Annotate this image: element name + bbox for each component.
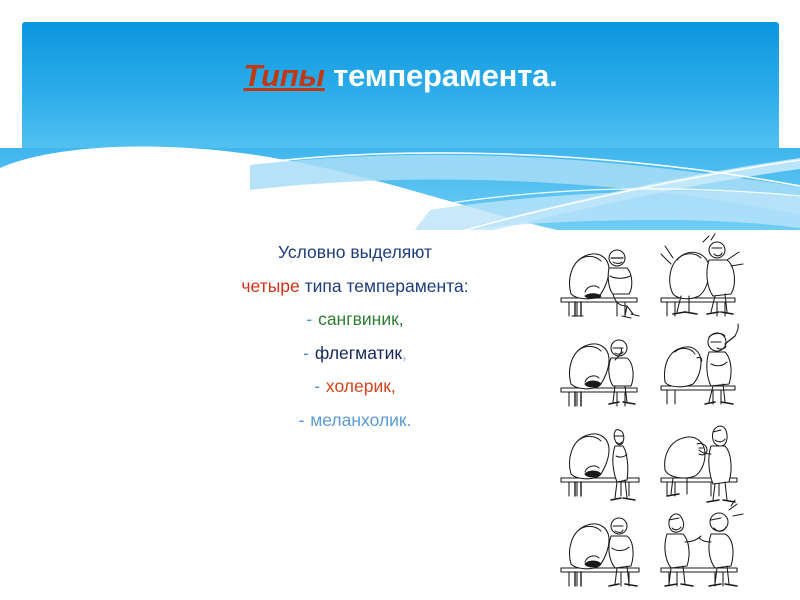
slide-header-banner xyxy=(0,0,800,230)
line-6: - меланхолик. xyxy=(150,404,560,438)
text-run: холерик, xyxy=(326,376,396,396)
text-run: - xyxy=(299,410,311,430)
text-run: , xyxy=(402,343,407,363)
slide: Типы темперамента. Условно выделяютчетыр… xyxy=(0,0,800,600)
four-temperaments-bench-cartoon xyxy=(553,232,758,592)
text-run: - xyxy=(314,376,326,396)
line-3: - сангвиник, xyxy=(150,303,560,337)
text-run: типа темперамента: xyxy=(300,276,469,296)
slide-title: Типы темперамента. xyxy=(22,60,779,91)
cartoon-grid-svg xyxy=(553,232,758,592)
text-run: четыре xyxy=(241,276,299,296)
text-run: флегматик xyxy=(315,343,402,363)
text-run: меланхолик. xyxy=(310,410,411,430)
text-run: - xyxy=(306,309,318,329)
title-remainder: темперамента. xyxy=(325,58,558,93)
title-accent-word: Типы xyxy=(243,58,324,93)
text-run: - xyxy=(303,343,315,363)
text-run: сангвиник, xyxy=(318,309,404,329)
body-text-block: Условно выделяютчетыре типа темперамента… xyxy=(150,236,560,437)
banner-graphic xyxy=(0,0,800,230)
line-2: четыре типа темперамента: xyxy=(150,270,560,304)
line-5: - холерик, xyxy=(150,370,560,404)
text-run: Условно выделяют xyxy=(278,242,432,262)
line-1: Условно выделяют xyxy=(150,236,560,270)
line-4: - флегматик, xyxy=(150,337,560,371)
